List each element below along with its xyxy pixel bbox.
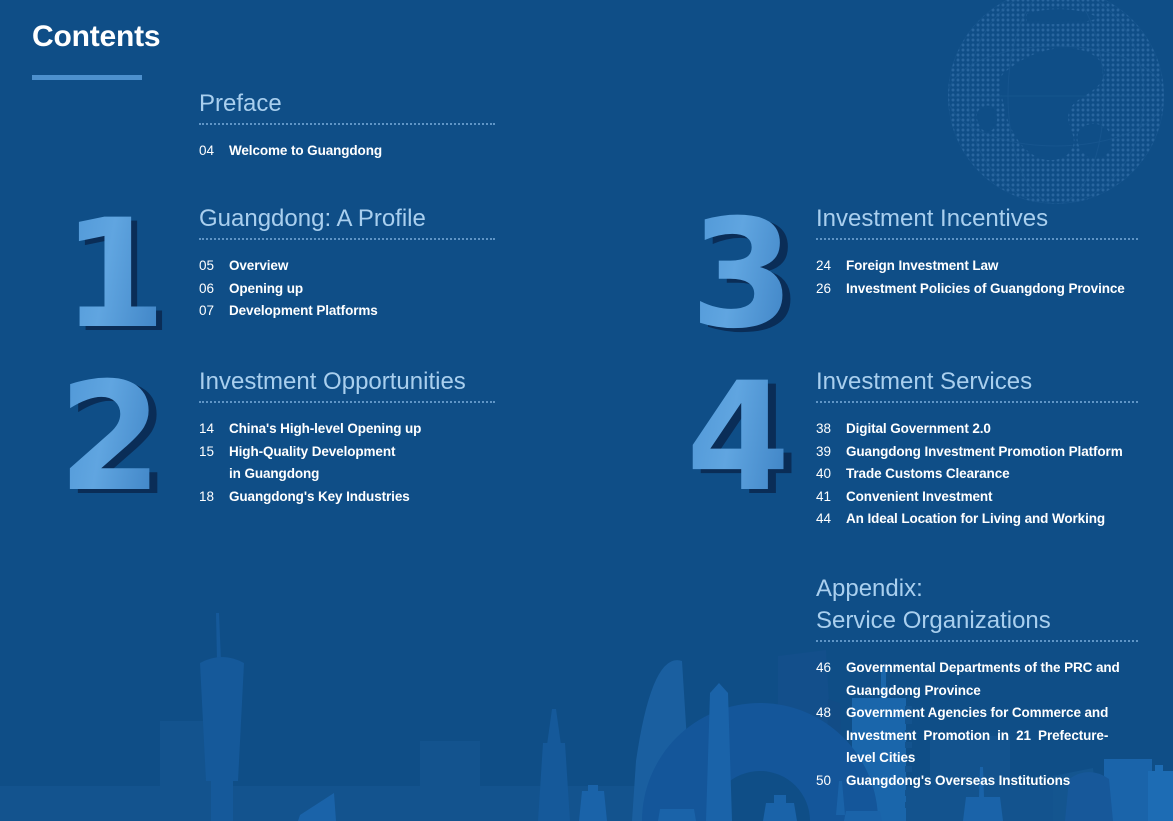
section-preface-dotted-rule [199, 123, 495, 128]
section-incentives-heading: Investment Incentives [816, 203, 1138, 235]
section-opportunities-body: Investment Opportunities 14 China's High… [199, 366, 495, 508]
toc-entry[interactable]: 24 Foreign Investment Law [816, 255, 1138, 278]
section-services-body: Investment Services 38 Digital Governmen… [816, 366, 1138, 531]
toc-entry-label: Foreign Investment Law [846, 255, 998, 278]
toc-entry[interactable]: 38 Digital Government 2.0 [816, 418, 1138, 441]
toc-page-number: 46 [816, 657, 846, 680]
toc-entry[interactable]: 48 Government Agencies for Commerce and … [816, 702, 1138, 770]
toc-page-number: 05 [199, 255, 229, 278]
section-opportunities-entries: 14 China's High-level Opening up 15 High… [199, 418, 495, 508]
section-appendix-body: Appendix: Service Organizations 46 Gover… [816, 573, 1138, 792]
section-appendix-dotted-rule [816, 640, 1138, 645]
section-appendix-heading-line1: Appendix: [816, 573, 1138, 605]
toc-page-number: 14 [199, 418, 229, 441]
toc-entry[interactable]: 07 Development Platforms [199, 300, 495, 323]
toc-entry-label-line1: High-Quality Development [229, 441, 395, 464]
section-incentives-dotted-rule [816, 238, 1138, 243]
section-opportunities-number: 2 [58, 363, 158, 513]
toc-page-number: 18 [199, 486, 229, 509]
toc-entry-label: Guangdong's Overseas Institutions [846, 770, 1070, 793]
toc-entry-label-line1: Government Agencies for Commerce and [846, 702, 1108, 725]
toc-entry-label: Guangdong Investment Promotion Platform [846, 441, 1123, 464]
toc-entry[interactable]: 40 Trade Customs Clearance [816, 463, 1138, 486]
toc-entry-label: Government Agencies for Commerce and Inv… [846, 702, 1108, 770]
toc-entry-label: Convenient Investment [846, 486, 992, 509]
toc-page-number: 41 [816, 486, 846, 509]
toc-page-number: 07 [199, 300, 229, 323]
toc-entry[interactable]: 46 Governmental Departments of the PRC a… [816, 657, 1138, 702]
section-services-entries: 38 Digital Government 2.0 39 Guangdong I… [816, 418, 1138, 531]
toc-entry-label: Opening up [229, 278, 303, 301]
toc-entry[interactable]: 15 High-Quality Development in Guangdong [199, 441, 495, 486]
section-preface-body: Preface 04 Welcome to Guangdong [199, 88, 495, 163]
toc-page-number: 39 [816, 441, 846, 464]
toc-entry-label: China's High-level Opening up [229, 418, 421, 441]
toc-entry-label: Welcome to Guangdong [229, 140, 382, 163]
section-incentives-number: 3 [690, 200, 790, 350]
page-title: Contents [32, 20, 160, 54]
toc-entry[interactable]: 26 Investment Policies of Guangdong Prov… [816, 278, 1138, 301]
section-incentives-entries: 24 Foreign Investment Law 26 Investment … [816, 255, 1138, 300]
toc-entry[interactable]: 14 China's High-level Opening up [199, 418, 495, 441]
toc-page-number: 40 [816, 463, 846, 486]
toc-entry-label-line1: Governmental Departments of the PRC and [846, 657, 1120, 680]
toc-entry-label: Overview [229, 255, 288, 278]
section-incentives-body: Investment Incentives 24 Foreign Investm… [816, 203, 1138, 300]
toc-entry-label-line3: level Cities [846, 747, 1108, 770]
toc-entry-label-line2: Investment Promotion in 21 Prefecture- [846, 725, 1108, 748]
toc-entry[interactable]: 41 Convenient Investment [816, 486, 1138, 509]
toc-entry[interactable]: 04 Welcome to Guangdong [199, 140, 495, 163]
toc-entry-label: Digital Government 2.0 [846, 418, 991, 441]
toc-page-number: 26 [816, 278, 846, 301]
title-underline-rule [32, 75, 142, 80]
section-opportunities-dotted-rule [199, 401, 495, 406]
toc-entry-label: Investment Policies of Guangdong Provinc… [846, 278, 1125, 301]
toc-entry[interactable]: 06 Opening up [199, 278, 495, 301]
section-profile-dotted-rule [199, 238, 495, 243]
toc-page-number: 15 [199, 441, 229, 464]
section-services-number: 4 [686, 363, 786, 513]
toc-entry[interactable]: 44 An Ideal Location for Living and Work… [816, 508, 1138, 531]
section-appendix-heading-line2: Service Organizations [816, 605, 1138, 637]
toc-entry-label-line2: Guangdong Province [846, 680, 1120, 703]
section-services-dotted-rule [816, 401, 1138, 406]
section-preface-entries: 04 Welcome to Guangdong [199, 140, 495, 163]
section-profile-heading: Guangdong: A Profile [199, 203, 495, 235]
toc-entry[interactable]: 18 Guangdong's Key Industries [199, 486, 495, 509]
toc-page-number: 24 [816, 255, 846, 278]
dotted-globe-icon [931, 0, 1173, 228]
toc-page-number: 06 [199, 278, 229, 301]
toc-entry[interactable]: 05 Overview [199, 255, 495, 278]
toc-entry-label: An Ideal Location for Living and Working [846, 508, 1105, 531]
section-services-heading: Investment Services [816, 366, 1138, 398]
section-opportunities-heading: Investment Opportunities [199, 366, 495, 398]
section-profile-entries: 05 Overview 06 Opening up 07 Development… [199, 255, 495, 323]
toc-entry-label: Guangdong's Key Industries [229, 486, 410, 509]
toc-entry[interactable]: 50 Guangdong's Overseas Institutions [816, 770, 1138, 793]
section-profile-number: 1 [62, 200, 162, 350]
toc-page-number: 04 [199, 140, 229, 163]
section-preface-heading: Preface [199, 88, 495, 120]
toc-page-number: 50 [816, 770, 846, 793]
toc-entry[interactable]: 39 Guangdong Investment Promotion Platfo… [816, 441, 1138, 464]
section-appendix-entries: 46 Governmental Departments of the PRC a… [816, 657, 1138, 792]
toc-page-number: 48 [816, 702, 846, 725]
toc-entry-label: High-Quality Development in Guangdong [229, 441, 395, 486]
toc-page-number: 38 [816, 418, 846, 441]
section-appendix-heading: Appendix: Service Organizations [816, 573, 1138, 637]
toc-entry-label: Trade Customs Clearance [846, 463, 1010, 486]
toc-entry-label: Governmental Departments of the PRC and … [846, 657, 1120, 702]
toc-entry-label-line2: in Guangdong [229, 463, 395, 486]
toc-page-number: 44 [816, 508, 846, 531]
toc-entry-label: Development Platforms [229, 300, 378, 323]
section-profile-body: Guangdong: A Profile 05 Overview 06 Open… [199, 203, 495, 323]
